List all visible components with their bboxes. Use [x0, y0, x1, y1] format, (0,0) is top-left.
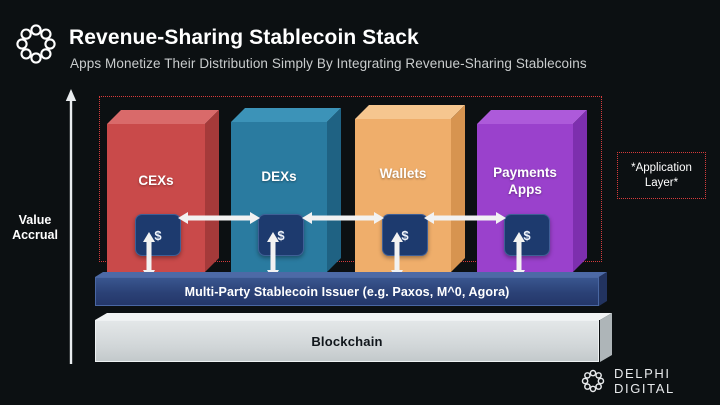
double-headed-horizontal-arrow-icon: [424, 210, 506, 226]
delphi-ring-icon: [13, 21, 59, 67]
page-subtitle: Apps Monetize Their Distribution Simply …: [70, 56, 587, 71]
value-accrual-label: Value Accrual: [6, 213, 64, 243]
pillar-cexs: CEXs$: [107, 110, 219, 272]
diagram-canvas: Revenue-Sharing Stablecoin Stack Apps Mo…: [0, 0, 720, 405]
blockchain-label: Blockchain: [95, 320, 599, 362]
pillar-label-line1: DEXs: [261, 169, 296, 184]
double-headed-horizontal-arrow-icon: [178, 210, 260, 226]
pillar-label: DEXs: [231, 168, 327, 185]
pillar-label-line2: Apps: [508, 182, 542, 197]
axis-label-line2: Accrual: [12, 228, 58, 242]
pillar-label-line1: Wallets: [380, 166, 427, 181]
app-layer-line2: Layer*: [645, 177, 678, 189]
page-title: Revenue-Sharing Stablecoin Stack: [69, 26, 419, 50]
pillar-label: CEXs: [107, 172, 205, 189]
pillar-payments: PaymentsApps$: [477, 110, 587, 272]
pillar-label: PaymentsApps: [477, 164, 573, 198]
blockchain-bar: Blockchain: [95, 313, 612, 363]
stablecoin-issuer-bar: Multi-Party Stablecoin Issuer (e.g. Paxo…: [95, 272, 607, 306]
footer-brand: DELPHI DIGITAL: [580, 366, 720, 396]
footer-brand-label: DELPHI DIGITAL: [614, 366, 720, 396]
pillar-label-line1: CEXs: [138, 173, 173, 188]
application-layer-badge: *Application Layer*: [617, 152, 706, 199]
pillar-wallets: Wallets$: [355, 105, 465, 272]
axis-label-line1: Value: [19, 213, 52, 227]
double-headed-horizontal-arrow-icon: [302, 210, 384, 226]
up-arrow-icon: [64, 88, 78, 368]
delphi-ring-icon: [580, 368, 606, 394]
pillar-label-line1: Payments: [493, 165, 557, 180]
app-layer-line1: *Application: [631, 162, 692, 174]
pillar-label: Wallets: [355, 165, 451, 182]
issuer-label: Multi-Party Stablecoin Issuer (e.g. Paxo…: [95, 277, 599, 306]
pillar-dexs: DEXs$: [231, 108, 341, 272]
